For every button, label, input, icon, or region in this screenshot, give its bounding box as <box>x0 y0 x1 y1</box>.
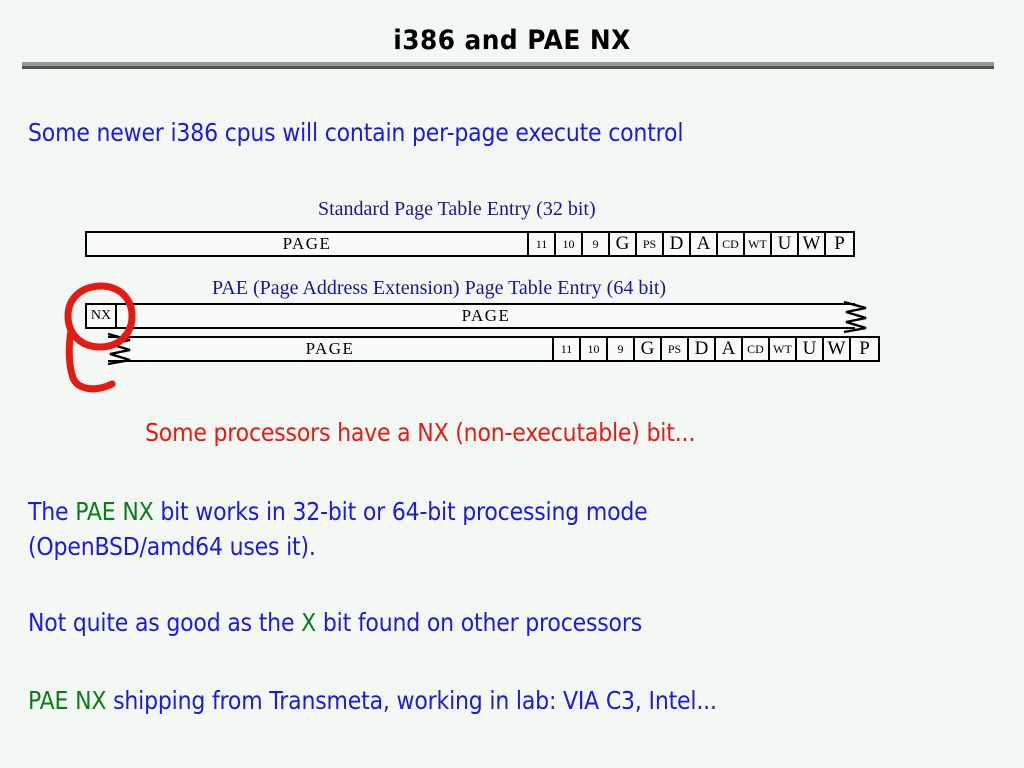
pae-bit-d: D <box>689 338 716 360</box>
para2-highlight-pae-nx: PAE NX <box>75 497 153 526</box>
line3-text-c: bit found on other processors <box>316 608 642 637</box>
standard-bit-10: 10 <box>556 233 583 255</box>
standard-bit-w: W <box>799 233 826 255</box>
para2-text-a: The <box>28 497 75 526</box>
standard-bit-u: U <box>772 233 799 255</box>
pae-pte-table-high: NX PAGE <box>85 303 855 329</box>
standard-bit-ps: PS <box>637 233 664 255</box>
page-table-entry-diagram: Standard Page Table Entry (32 bit) PAGE … <box>0 0 1024 768</box>
line4-highlight-pae-nx: PAE NX <box>28 686 106 715</box>
pae-bit-9: 9 <box>608 338 635 360</box>
pae-bit-10: 10 <box>581 338 608 360</box>
pae-bit-w: W <box>824 338 851 360</box>
standard-pte-label: Standard Page Table Entry (32 bit) <box>318 198 596 221</box>
pae-bit-11: 11 <box>554 338 581 360</box>
pae-bit-u: U <box>797 338 824 360</box>
standard-bit-11: 11 <box>529 233 556 255</box>
bullet-line-4: PAE NX shipping from Transmeta, working … <box>28 686 717 715</box>
paragraph-2-line-1: The PAE NX bit works in 32-bit or 64-bit… <box>28 497 648 526</box>
standard-bit-9: 9 <box>583 233 610 255</box>
nx-bit-note: Some processors have a NX (non-executabl… <box>145 418 695 447</box>
standard-bit-wt: WT <box>745 233 772 255</box>
break-mark-right-icon <box>840 296 884 338</box>
standard-bit-p: P <box>826 233 853 255</box>
para2-text-c: bit works in 32-bit or 64-bit processing… <box>153 497 647 526</box>
standard-bit-g: G <box>610 233 637 255</box>
bullet-line-3: Not quite as good as the X bit found on … <box>28 608 642 637</box>
pae-page-field-low: PAGE <box>108 338 554 360</box>
standard-bit-d: D <box>664 233 691 255</box>
line3-highlight-x: X <box>301 608 316 637</box>
line4-text-b: shipping from Transmeta, working in lab:… <box>106 686 717 715</box>
pae-bit-g: G <box>635 338 662 360</box>
standard-bit-a: A <box>691 233 718 255</box>
pae-nx-field: NX <box>87 305 117 327</box>
pae-page-field-high: PAGE <box>117 305 855 327</box>
break-mark-left-icon <box>104 328 148 370</box>
pae-bit-p: P <box>851 338 878 360</box>
paragraph-2-line-2: (OpenBSD/amd64 uses it). <box>28 532 316 561</box>
pae-bit-cd: CD <box>743 338 770 360</box>
pae-pte-table-low: PAGE 11 10 9 G PS D A CD WT U W P <box>108 336 880 362</box>
line3-text-a: Not quite as good as the <box>28 608 301 637</box>
standard-pte-table: PAGE 11 10 9 G PS D A CD WT U W P <box>85 231 855 257</box>
standard-page-field: PAGE <box>87 233 529 255</box>
pae-bit-ps: PS <box>662 338 689 360</box>
pae-bit-a: A <box>716 338 743 360</box>
pae-bit-wt: WT <box>770 338 797 360</box>
pae-pte-label: PAE (Page Address Extension) Page Table … <box>212 277 666 300</box>
standard-bit-cd: CD <box>718 233 745 255</box>
